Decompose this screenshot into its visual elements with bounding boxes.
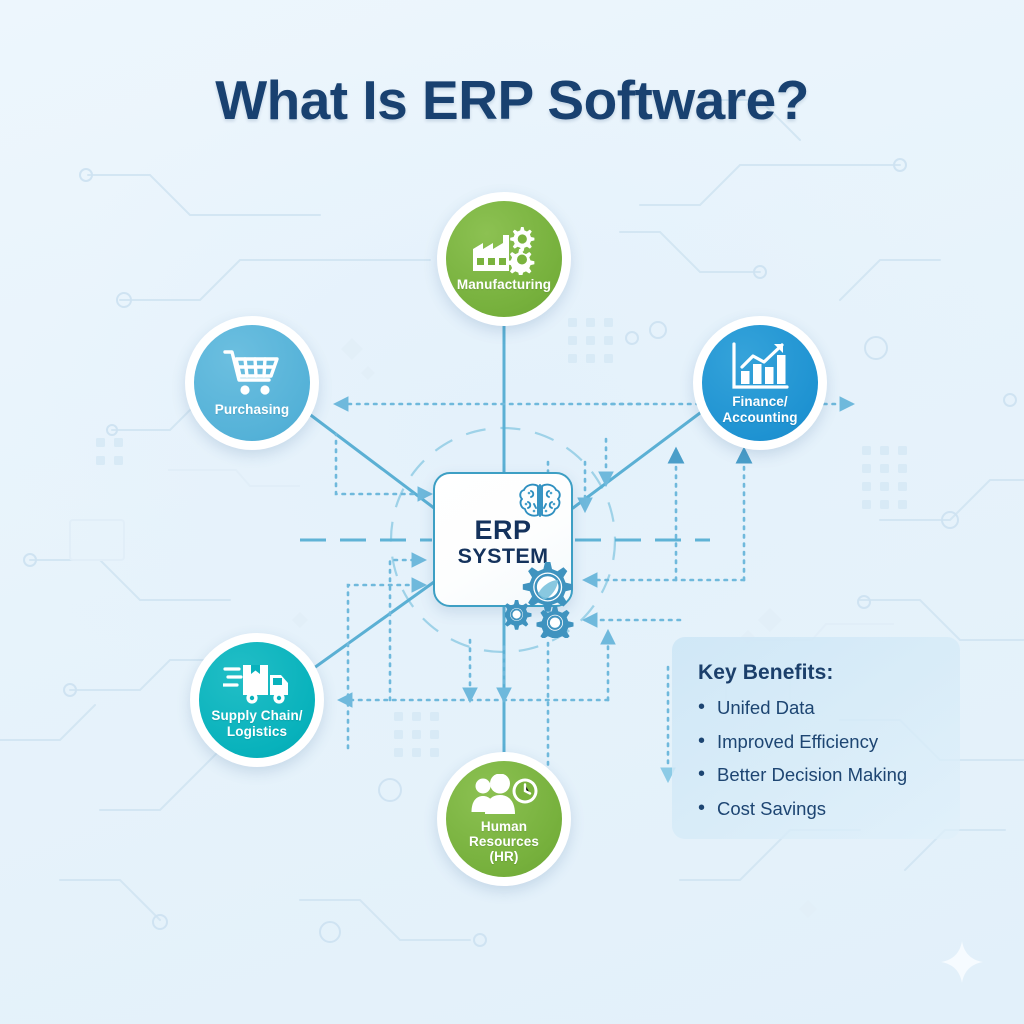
infographic-canvas: What Is ERP Software? Ma — [0, 0, 1024, 1024]
benefit-item: Cost Savings — [698, 800, 938, 819]
erp-label-line1: ERP — [435, 516, 571, 544]
benefit-item: Unifed Data — [698, 699, 938, 718]
delivery-truck-icon — [223, 661, 291, 705]
benefit-item: Improved Efficiency — [698, 733, 938, 752]
shopping-cart-icon — [223, 348, 281, 396]
node-finance-accounting[interactable]: Finance/Accounting — [693, 316, 827, 450]
node-label-purchasing: Purchasing — [215, 402, 290, 417]
bar-chart-growth-icon — [730, 341, 790, 393]
page-title: What Is ERP Software? — [0, 68, 1024, 132]
node-label-manufacturing: Manufacturing — [457, 277, 551, 292]
node-human-resources[interactable]: Human Resources(HR) — [437, 752, 571, 886]
node-label-supply-chain-logistics: Supply Chain/Logistics — [211, 708, 302, 738]
sparkle-icon — [940, 940, 984, 989]
gears-icon — [505, 552, 591, 643]
key-benefits-panel: Key Benefits: Unifed Data Improved Effic… — [672, 637, 960, 839]
benefit-item: Better Decision Making — [698, 766, 938, 785]
node-label-human-resources: Human Resources(HR) — [446, 819, 562, 864]
node-manufacturing[interactable]: Manufacturing — [437, 192, 571, 326]
node-purchasing[interactable]: Purchasing — [185, 316, 319, 450]
people-clock-icon — [470, 774, 538, 816]
node-label-finance-accounting: Finance/Accounting — [722, 394, 797, 424]
key-benefits-heading: Key Benefits: — [698, 661, 938, 685]
node-supply-chain-logistics[interactable]: Supply Chain/Logistics — [190, 633, 324, 767]
key-benefits-list: Unifed Data Improved Efficiency Better D… — [698, 699, 938, 818]
factory-gears-icon — [471, 225, 537, 275]
